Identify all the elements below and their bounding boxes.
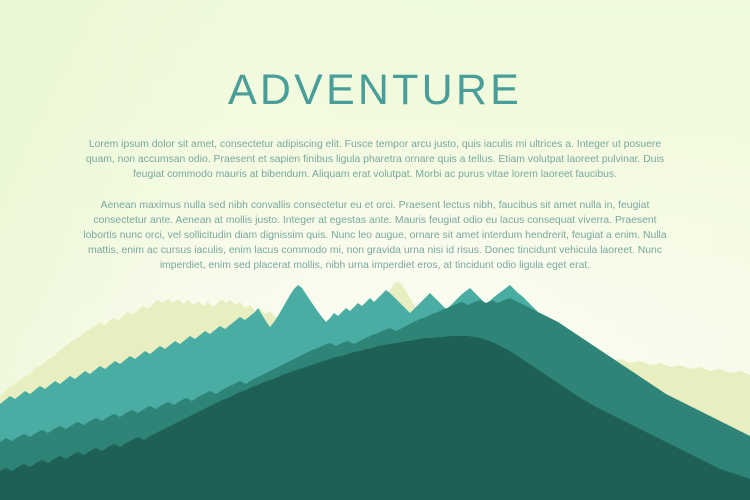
- adventure-poster: ADVENTURE Lorem ipsum dolor sit amet, co…: [0, 0, 750, 500]
- poster-text-content: ADVENTURE Lorem ipsum dolor sit amet, co…: [0, 0, 750, 273]
- mountain-layer-group: [0, 281, 750, 500]
- intro-paragraph-1: Lorem ipsum dolor sit amet, consectetur …: [75, 113, 675, 182]
- page-title: ADVENTURE: [0, 0, 750, 113]
- intro-paragraph-2: Aenean maximus nulla sed nibh convallis …: [80, 182, 670, 273]
